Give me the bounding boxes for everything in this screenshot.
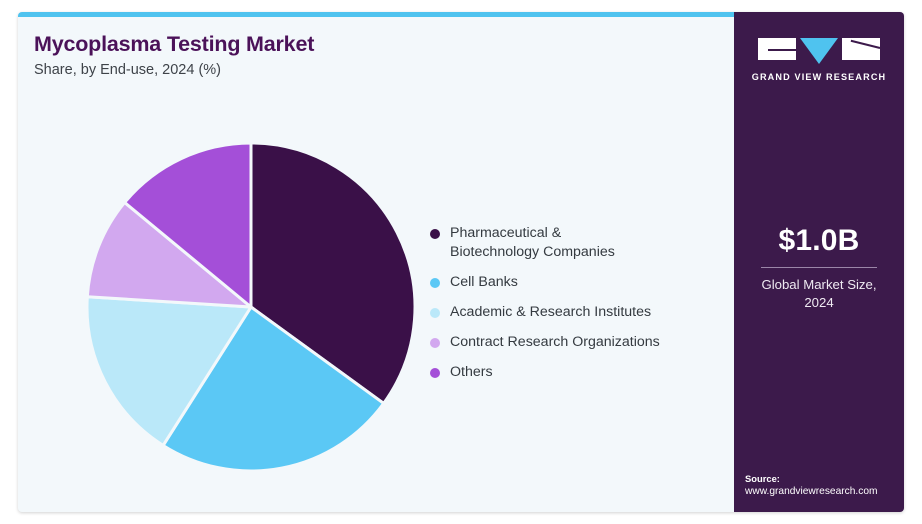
- legend-swatch-icon: [430, 308, 440, 318]
- pie-chart-svg: [69, 131, 433, 483]
- legend-item-label: Academic & Research Institutes: [450, 303, 651, 322]
- legend-item-label: Contract Research Organizations: [450, 333, 660, 352]
- page-title: Mycoplasma Testing Market: [34, 32, 314, 57]
- legend-item[interactable]: Cell Banks: [430, 273, 730, 292]
- logo-marks: [734, 38, 904, 64]
- source-url: www.grandviewresearch.com: [745, 485, 901, 499]
- logo-g-icon: [758, 38, 796, 60]
- chart-pane: Mycoplasma Testing Market Share, by End-…: [18, 12, 734, 512]
- logo-r-icon: [842, 38, 880, 60]
- pie-chart: [69, 131, 433, 483]
- page-subtitle: Share, by End-use, 2024 (%): [34, 62, 221, 78]
- legend-swatch-icon: [430, 278, 440, 288]
- legend-item-label: Others: [450, 363, 493, 382]
- market-size-metric: $1.0B Global Market Size, 2024: [734, 224, 904, 312]
- source-label: Source:: [745, 472, 901, 485]
- chart-infographic: Mycoplasma Testing Market Share, by End-…: [0, 0, 922, 524]
- legend-item[interactable]: Others: [430, 363, 730, 382]
- legend-item-label: Pharmaceutical & Biotechnology Companies: [450, 224, 615, 262]
- logo-v-triangle-icon: [800, 38, 838, 64]
- gvr-logo: GRAND VIEW RESEARCH: [734, 38, 904, 82]
- market-size-value: $1.0B: [734, 224, 904, 258]
- brand-sidebar: GRAND VIEW RESEARCH $1.0B Global Market …: [734, 12, 904, 512]
- legend-swatch-icon: [430, 368, 440, 378]
- legend-item-label: Cell Banks: [450, 273, 518, 292]
- metric-divider: [761, 267, 877, 268]
- legend-item[interactable]: Academic & Research Institutes: [430, 303, 730, 322]
- legend-swatch-icon: [430, 338, 440, 348]
- market-size-caption: Global Market Size, 2024: [734, 276, 904, 312]
- legend-item[interactable]: Pharmaceutical & Biotechnology Companies: [430, 224, 730, 262]
- legend-item[interactable]: Contract Research Organizations: [430, 333, 730, 352]
- infographic-card: Mycoplasma Testing Market Share, by End-…: [18, 12, 904, 512]
- source-footer: Source: www.grandviewresearch.com: [745, 472, 901, 499]
- legend-swatch-icon: [430, 229, 440, 239]
- logo-brand-text: GRAND VIEW RESEARCH: [734, 72, 904, 82]
- chart-legend: Pharmaceutical & Biotechnology Companies…: [430, 224, 730, 393]
